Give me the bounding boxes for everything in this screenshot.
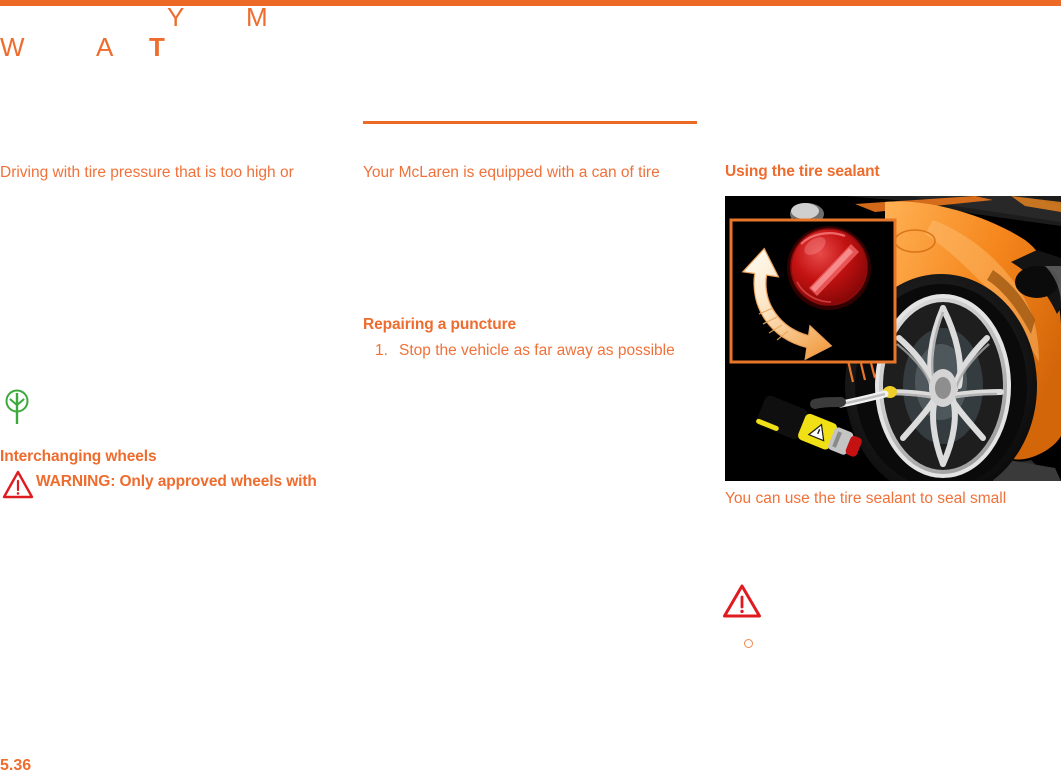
tire-sealant-illustration xyxy=(725,196,1061,481)
header-letter-a: A xyxy=(96,34,113,60)
right-section-heading: Using the tire sealant xyxy=(725,163,880,181)
bullet-circle-icon xyxy=(744,639,753,648)
list-item-number: 1. xyxy=(375,341,388,362)
right-figure-caption: You can use the tire sealant to seal sma… xyxy=(725,489,1006,510)
left-intro-text: Driving with tire pressure that is too h… xyxy=(0,163,294,184)
middle-section-heading: Repairing a puncture xyxy=(363,316,516,334)
list-item-text: Stop the vehicle as far away as possible xyxy=(399,341,675,362)
page-number: 5.36 xyxy=(0,757,31,773)
manual-page: Y M W A T Driving with tire pressure tha… xyxy=(0,0,1061,773)
warning-triangle-icon xyxy=(2,470,34,499)
header-letter-m: M xyxy=(246,4,268,30)
middle-intro-text: Your McLaren is equipped with a can of t… xyxy=(363,163,660,184)
header-letter-w: W xyxy=(0,34,25,60)
middle-column-rule xyxy=(363,121,697,124)
top-accent-bar xyxy=(0,0,1061,6)
header-letter-t: T xyxy=(149,34,165,60)
warning-triangle-icon-large xyxy=(722,584,762,619)
eco-tree-icon xyxy=(2,389,32,425)
left-section-heading: Interchanging wheels xyxy=(0,448,156,466)
left-warning-text: WARNING: Only approved wheels with xyxy=(36,473,317,491)
header-letter-y: Y xyxy=(167,4,184,30)
